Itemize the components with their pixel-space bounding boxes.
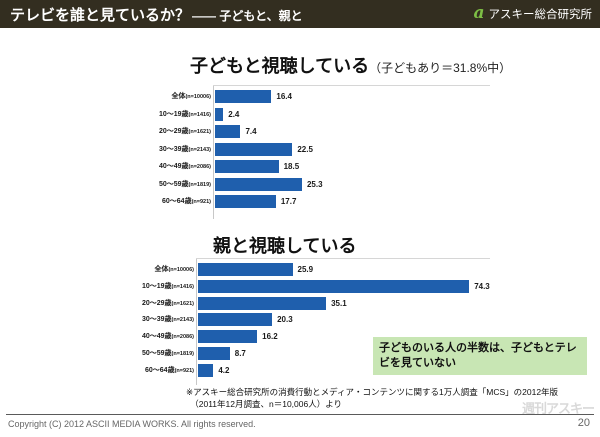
chart-1-title-text: 子どもと視聴している — [190, 56, 369, 76]
bar-value-label: 17.7 — [281, 195, 297, 208]
bar-category-sample-size: (n=2086) — [172, 334, 194, 340]
bar-value-label: 16.4 — [276, 90, 292, 103]
bar-category-sample-size: (n=921) — [175, 368, 194, 374]
chart-1-title-note: （子どもあり＝31.8%中） — [369, 61, 511, 75]
chart-bar — [198, 263, 293, 276]
bar-category-sample-size: (n=1416) — [189, 112, 211, 118]
chart-bar — [215, 125, 240, 138]
bar-category-sample-size: (n=1819) — [189, 182, 211, 188]
callout-text: 子どものいる人の半数は、子どもとテレビを見ていない — [379, 341, 581, 371]
bar-category-label: 40〜49歳(n=2086) — [142, 330, 194, 344]
bar-category-sample-size: (n=1416) — [172, 284, 194, 290]
bar-category-label: 全体(n=10006) — [171, 90, 211, 104]
bar-category-name: 60〜64歳 — [162, 198, 192, 205]
bar-category-name: 全体 — [171, 93, 185, 100]
chart-bar-row: 全体(n=10006)25.9 — [197, 263, 490, 276]
page-title-main: テレビを誰と見ているか？ — [10, 7, 190, 24]
chart-bar — [215, 143, 292, 156]
chart-bar-row: 30〜39歳(n=2143)22.5 — [214, 143, 490, 156]
bar-category-label: 30〜39歳(n=2143) — [159, 143, 211, 157]
bar-category-label: 10〜19歳(n=1416) — [142, 280, 194, 294]
brand-logo: a アスキー総合研究所 — [473, 5, 592, 22]
bar-category-name: 60〜64歳 — [145, 367, 175, 374]
bar-category-label: 50〜59歳(n=1819) — [159, 178, 211, 192]
chart-1-plot-area: 全体(n=10006)16.410〜19歳(n=1416)2.420〜29歳(n… — [213, 85, 490, 219]
chart-bar-row: 全体(n=10006)16.4 — [214, 90, 490, 103]
footer-divider — [6, 414, 594, 415]
bar-value-label: 7.4 — [245, 125, 256, 138]
chart-bar-row: 60〜64歳(n=921)17.7 — [214, 195, 490, 208]
callout-box: 子どものいる人の半数は、子どもとテレビを見ていない — [373, 337, 587, 375]
bar-category-sample-size: (n=10006) — [185, 94, 211, 100]
bar-category-name: 30〜39歳 — [159, 146, 189, 153]
bar-category-label: 30〜39歳(n=2143) — [142, 313, 194, 327]
bar-category-name: 50〜59歳 — [142, 350, 172, 357]
bar-value-label: 2.4 — [228, 108, 239, 121]
slide-header: テレビを誰と見ているか？—— 子どもと、親と a アスキー総合研究所 — [0, 0, 600, 28]
slide: テレビを誰と見ているか？—— 子どもと、親と a アスキー総合研究所 子どもと視… — [0, 0, 600, 437]
bar-category-name: 20〜29歳 — [142, 300, 172, 307]
bar-value-label: 35.1 — [331, 297, 347, 310]
chart-bar — [198, 280, 469, 293]
chart-bar-row: 30〜39歳(n=2143)20.3 — [197, 313, 490, 326]
bar-category-sample-size: (n=921) — [192, 199, 211, 205]
chart-2-title-text: 親と視聴している — [213, 236, 356, 256]
bar-category-label: 10〜19歳(n=1416) — [159, 108, 211, 122]
bar-value-label: 25.3 — [307, 178, 323, 191]
bar-category-sample-size: (n=2143) — [189, 147, 211, 153]
bar-category-name: 40〜49歳 — [159, 163, 189, 170]
bar-category-sample-size: (n=1819) — [172, 351, 194, 357]
bar-category-label: 50〜59歳(n=1819) — [142, 347, 194, 361]
chart-bar — [215, 195, 276, 208]
copyright-text: Copyright (C) 2012 ASCII MEDIA WORKS. Al… — [8, 419, 256, 429]
chart-1-bars: 全体(n=10006)16.410〜19歳(n=1416)2.420〜29歳(n… — [213, 86, 490, 219]
source-footnote: ※アスキー総合研究所の消費行動とメディア・コンテンツに関する1万人調査「MCS」… — [186, 386, 558, 410]
bar-category-label: 20〜29歳(n=1621) — [142, 297, 194, 311]
chart-bar — [198, 313, 272, 326]
page-number: 20 — [578, 417, 590, 429]
bar-category-label: 全体(n=10006) — [154, 263, 194, 277]
bar-value-label: 4.2 — [218, 364, 229, 377]
bar-value-label: 74.3 — [474, 280, 490, 293]
bar-value-label: 20.3 — [277, 313, 293, 326]
chart-bar — [215, 178, 302, 191]
chart-bar-row: 40〜49歳(n=2086)18.5 — [214, 160, 490, 173]
chart-bar — [215, 108, 223, 121]
ascii-a-icon: a — [473, 5, 484, 22]
chart-bar — [198, 330, 257, 343]
bar-category-name: 10〜19歳 — [159, 111, 189, 118]
chart-bar-row: 10〜19歳(n=1416)74.3 — [197, 280, 490, 293]
chart-bar — [198, 347, 230, 360]
chart-bar — [215, 160, 279, 173]
chart-bar-row: 50〜59歳(n=1819)25.3 — [214, 178, 490, 191]
bar-category-name: 10〜19歳 — [142, 283, 172, 290]
bar-value-label: 16.2 — [262, 330, 278, 343]
bar-category-sample-size: (n=1621) — [172, 301, 194, 307]
bar-category-sample-size: (n=2143) — [172, 317, 194, 323]
bar-category-label: 60〜64歳(n=921) — [145, 364, 194, 378]
bar-value-label: 18.5 — [284, 160, 300, 173]
bar-category-sample-size: (n=2086) — [189, 164, 211, 170]
bar-category-name: 50〜59歳 — [159, 181, 189, 188]
bar-value-label: 25.9 — [298, 263, 314, 276]
bar-category-sample-size: (n=10006) — [168, 267, 194, 273]
bar-category-name: 20〜29歳 — [159, 128, 189, 135]
bar-category-label: 20〜29歳(n=1621) — [159, 125, 211, 139]
chart-bar-row: 10〜19歳(n=1416)2.4 — [214, 108, 490, 121]
chart-bar-row: 20〜29歳(n=1621)7.4 — [214, 125, 490, 138]
bar-value-label: 8.7 — [235, 347, 246, 360]
chart-bar-row: 20〜29歳(n=1621)35.1 — [197, 297, 490, 310]
chart-1-title: 子どもと視聴している（子どもあり＝31.8%中） — [190, 52, 511, 78]
bar-category-name: 40〜49歳 — [142, 333, 172, 340]
chart-bar — [198, 297, 326, 310]
bar-category-sample-size: (n=1621) — [189, 129, 211, 135]
chart-2-title: 親と視聴している — [213, 232, 356, 258]
brand-logo-label: アスキー総合研究所 — [489, 6, 593, 22]
bar-value-label: 22.5 — [297, 143, 313, 156]
page-title-subtitle: —— 子どもと、親と — [192, 9, 303, 23]
bar-category-name: 全体 — [154, 266, 168, 273]
bar-category-label: 40〜49歳(n=2086) — [159, 160, 211, 174]
bar-category-label: 60〜64歳(n=921) — [162, 195, 211, 209]
bar-category-name: 30〜39歳 — [142, 316, 172, 323]
page-title: テレビを誰と見ているか？—— 子どもと、親と — [10, 4, 303, 25]
chart-bar — [215, 90, 271, 103]
chart-bar — [198, 364, 213, 377]
